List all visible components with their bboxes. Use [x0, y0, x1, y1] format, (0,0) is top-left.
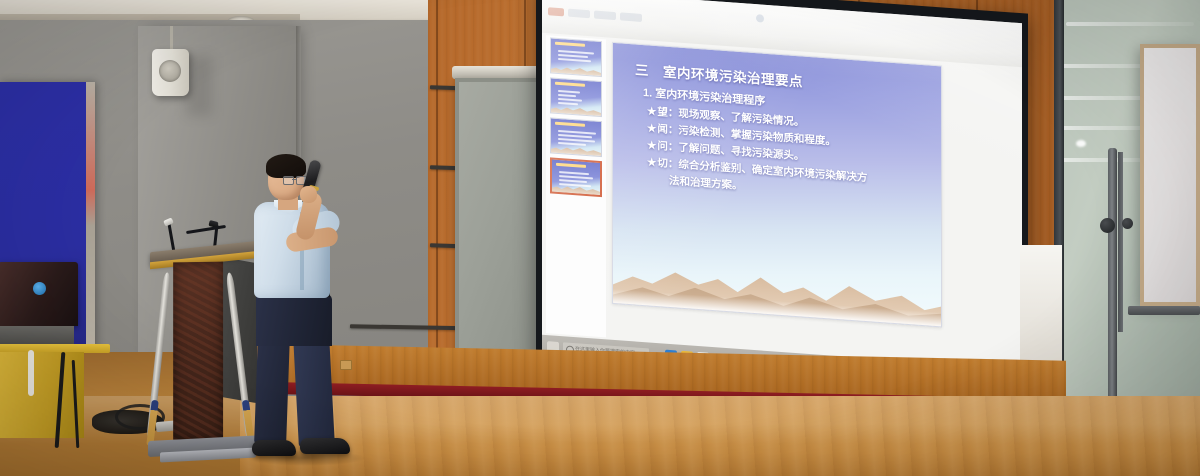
lecture-hall-photo: 三 室内环境污染治理要点 1. 室内环境污染治理程序 ★望：现场观察、了解污染情… — [0, 0, 1200, 476]
glass-light-spot — [1076, 140, 1086, 147]
speaker-shadow — [186, 56, 212, 116]
speaker-grille — [159, 60, 181, 82]
slide-thumbnail[interactable] — [550, 37, 602, 77]
blue-backdrop-edge — [86, 82, 95, 382]
presenter-hand — [300, 186, 317, 203]
eyeglasses-icon — [283, 176, 306, 183]
slide-thumbnail[interactable] — [550, 77, 602, 117]
glass-reflection — [1066, 22, 1194, 26]
wall-speaker-icon — [152, 49, 189, 96]
presenter-shoe-left — [252, 440, 296, 456]
slide-thumbnail[interactable] — [550, 117, 602, 157]
current-slide[interactable]: 三 室内环境污染治理要点 1. 室内环境污染治理程序 ★望：现场观察、了解污染情… — [612, 42, 942, 328]
ribbon-tab-design[interactable] — [620, 12, 642, 22]
whiteboard-adjust-knob[interactable] — [1100, 218, 1115, 233]
side-white-panel — [1020, 245, 1062, 378]
power-cable-white — [28, 350, 34, 396]
star-bullet-icon: ★ — [647, 156, 656, 169]
ribbon-tab-file[interactable] — [548, 7, 564, 16]
slide-thumbnail-selected[interactable] — [550, 157, 602, 197]
laptop-logo-icon — [33, 282, 46, 295]
lectern-front-panel — [173, 262, 223, 441]
slide-bullet-list: ★望：现场观察、了解污染情况。 ★闻：污染检测、掌握污染物质和程度。 ★问：了解… — [647, 103, 931, 208]
whiteboard — [1140, 44, 1200, 306]
wall-outlet-icon — [340, 360, 352, 370]
presenter-leg-right — [293, 335, 335, 447]
ribbon-help-icon[interactable] — [756, 14, 764, 23]
presenter-leg-left — [254, 335, 290, 444]
whiteboard-adjust-knob[interactable] — [1122, 218, 1133, 229]
slide-thumbnail-pane[interactable] — [546, 35, 606, 337]
speaker-mount-bracket — [170, 26, 173, 50]
presenter-trousers — [256, 294, 332, 346]
star-bullet-icon: ★ — [647, 139, 656, 152]
ribbon-tabs[interactable] — [548, 7, 642, 22]
presenter-hair — [266, 154, 306, 178]
ribbon-tab-home[interactable] — [568, 9, 590, 19]
presenter-shoe-right — [300, 438, 350, 454]
star-bullet-icon: ★ — [647, 105, 656, 118]
whiteboard-stand-post-inner — [1118, 152, 1123, 332]
star-bullet-icon: ★ — [647, 122, 656, 135]
projection-screen[interactable]: 三 室内环境污染治理要点 1. 室内环境污染治理程序 ★望：现场观察、了解污染情… — [542, 0, 1022, 393]
ribbon-tab-insert[interactable] — [594, 11, 616, 21]
av-desk-shelf — [0, 326, 74, 346]
slide-bullet-text: 法和治理方案。 — [669, 175, 743, 192]
whiteboard-marker-tray — [1128, 306, 1200, 315]
